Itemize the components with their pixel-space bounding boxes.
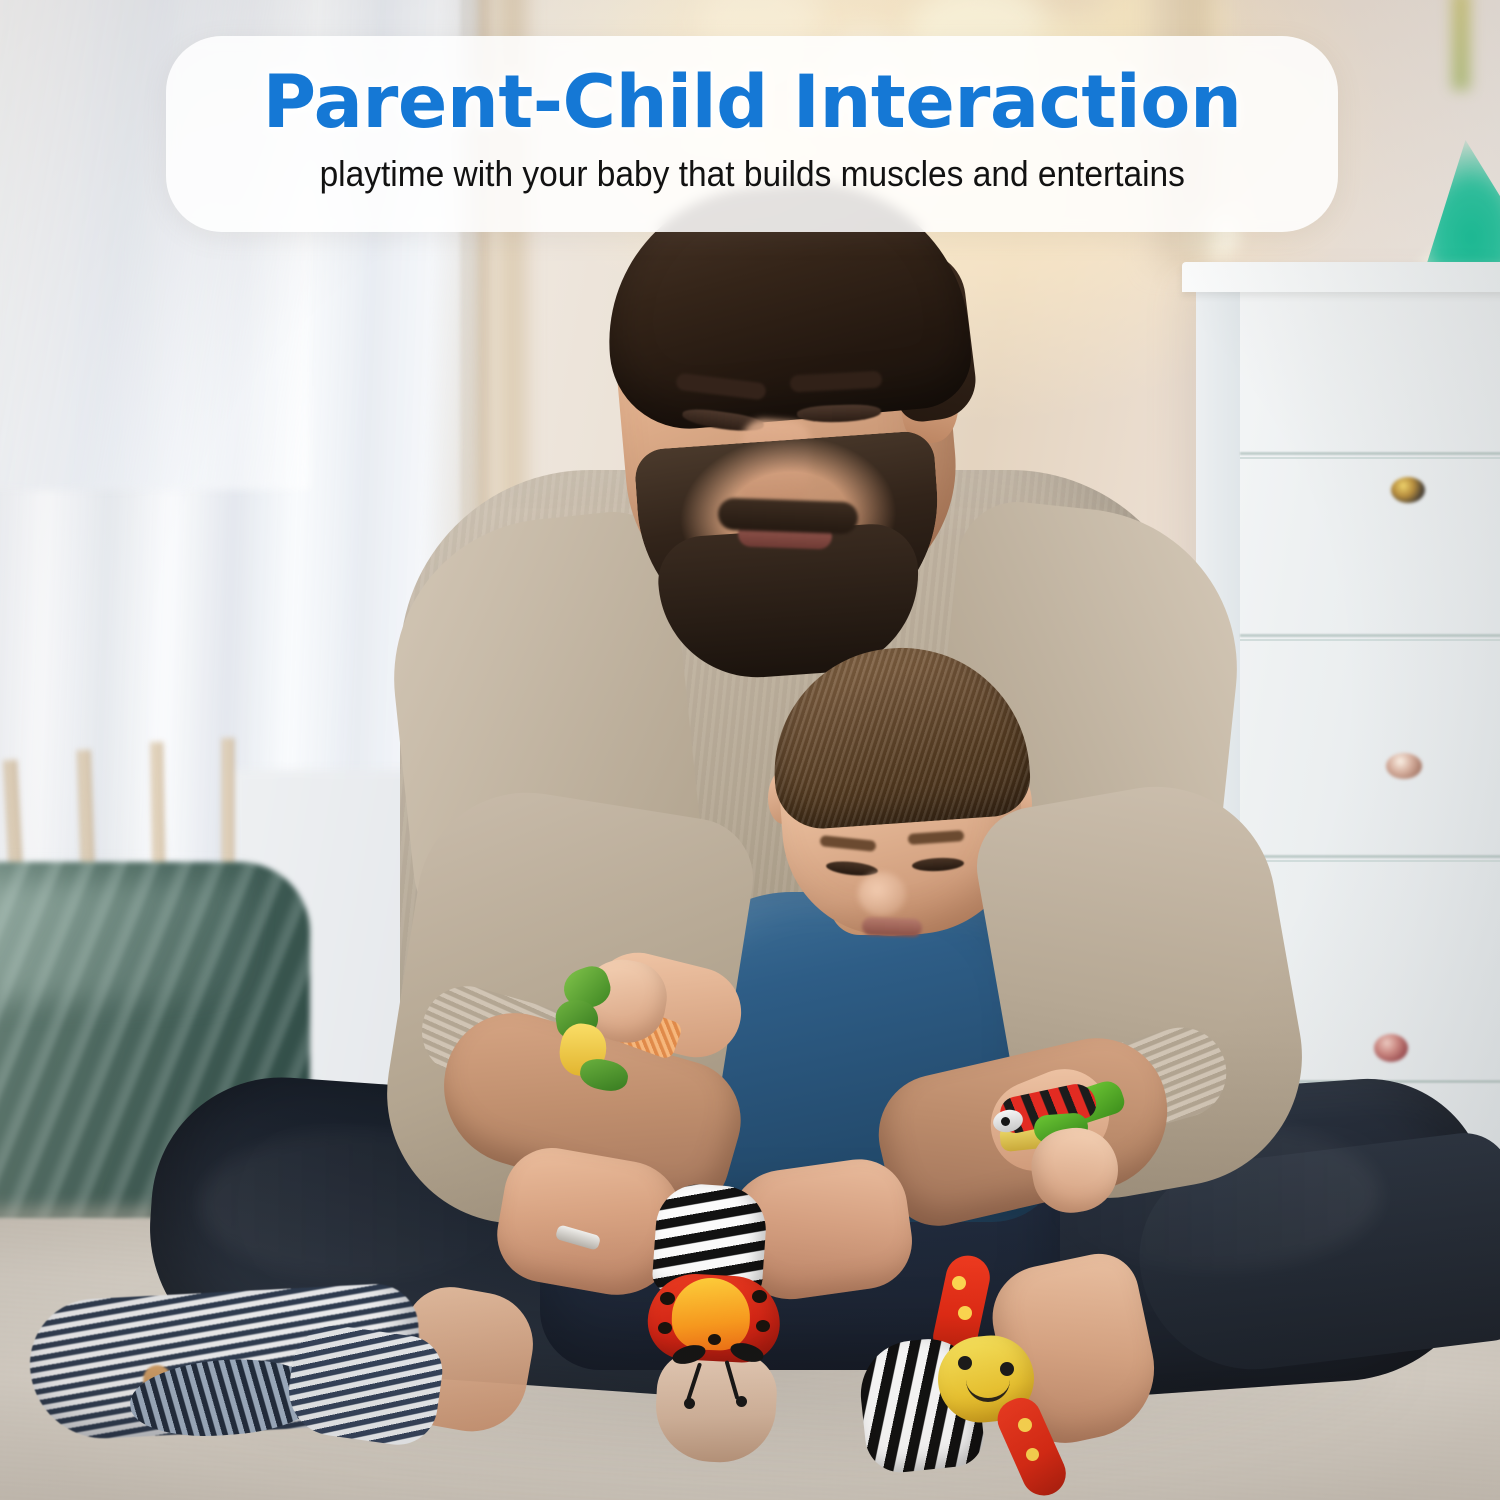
plant-stem <box>1452 0 1470 90</box>
ladybug-spot <box>756 1320 770 1332</box>
bee-eye <box>1000 1362 1014 1376</box>
dresser-drawer-line <box>1240 860 1500 862</box>
ladybug-antenna-tip <box>684 1398 695 1409</box>
dresser-drawer-line <box>1240 855 1500 858</box>
dresser-knob <box>1386 753 1422 779</box>
ladybug-spot <box>660 1292 675 1305</box>
bee-wing-dot <box>952 1276 966 1290</box>
cushion-highlight <box>0 880 250 1000</box>
page-subtitle: playtime with your baby that builds musc… <box>319 154 1184 194</box>
ladybug-spot <box>752 1290 767 1303</box>
bee-wing-dot <box>958 1306 972 1320</box>
bee-wing-dot <box>1026 1448 1039 1461</box>
dresser-top <box>1182 262 1500 292</box>
bee-wing-dot <box>1018 1418 1032 1432</box>
man-mustache <box>717 498 858 535</box>
bee-eye <box>958 1356 972 1370</box>
dresser-knob <box>1391 477 1425 503</box>
ladybug-spot <box>658 1322 672 1334</box>
crib-bar <box>222 738 234 878</box>
page-title: Parent-Child Interaction <box>263 66 1242 140</box>
dresser-knob <box>1374 1034 1408 1062</box>
ladybug-spot <box>708 1334 721 1345</box>
product-lifestyle-image: Parent-Child Interaction playtime with y… <box>0 0 1500 1500</box>
dresser-drawer-line <box>1240 639 1500 641</box>
dresser-drawer-line <box>1240 457 1500 459</box>
dresser-drawer-line <box>1240 452 1500 455</box>
dresser-drawer-line <box>1240 634 1500 637</box>
baby-nose <box>858 872 906 916</box>
wrist-rattle-right-eye <box>1001 1117 1010 1126</box>
ladybug-antenna-tip <box>736 1396 747 1407</box>
headline-banner: Parent-Child Interaction playtime with y… <box>166 36 1338 232</box>
baby-mouth <box>862 917 923 937</box>
